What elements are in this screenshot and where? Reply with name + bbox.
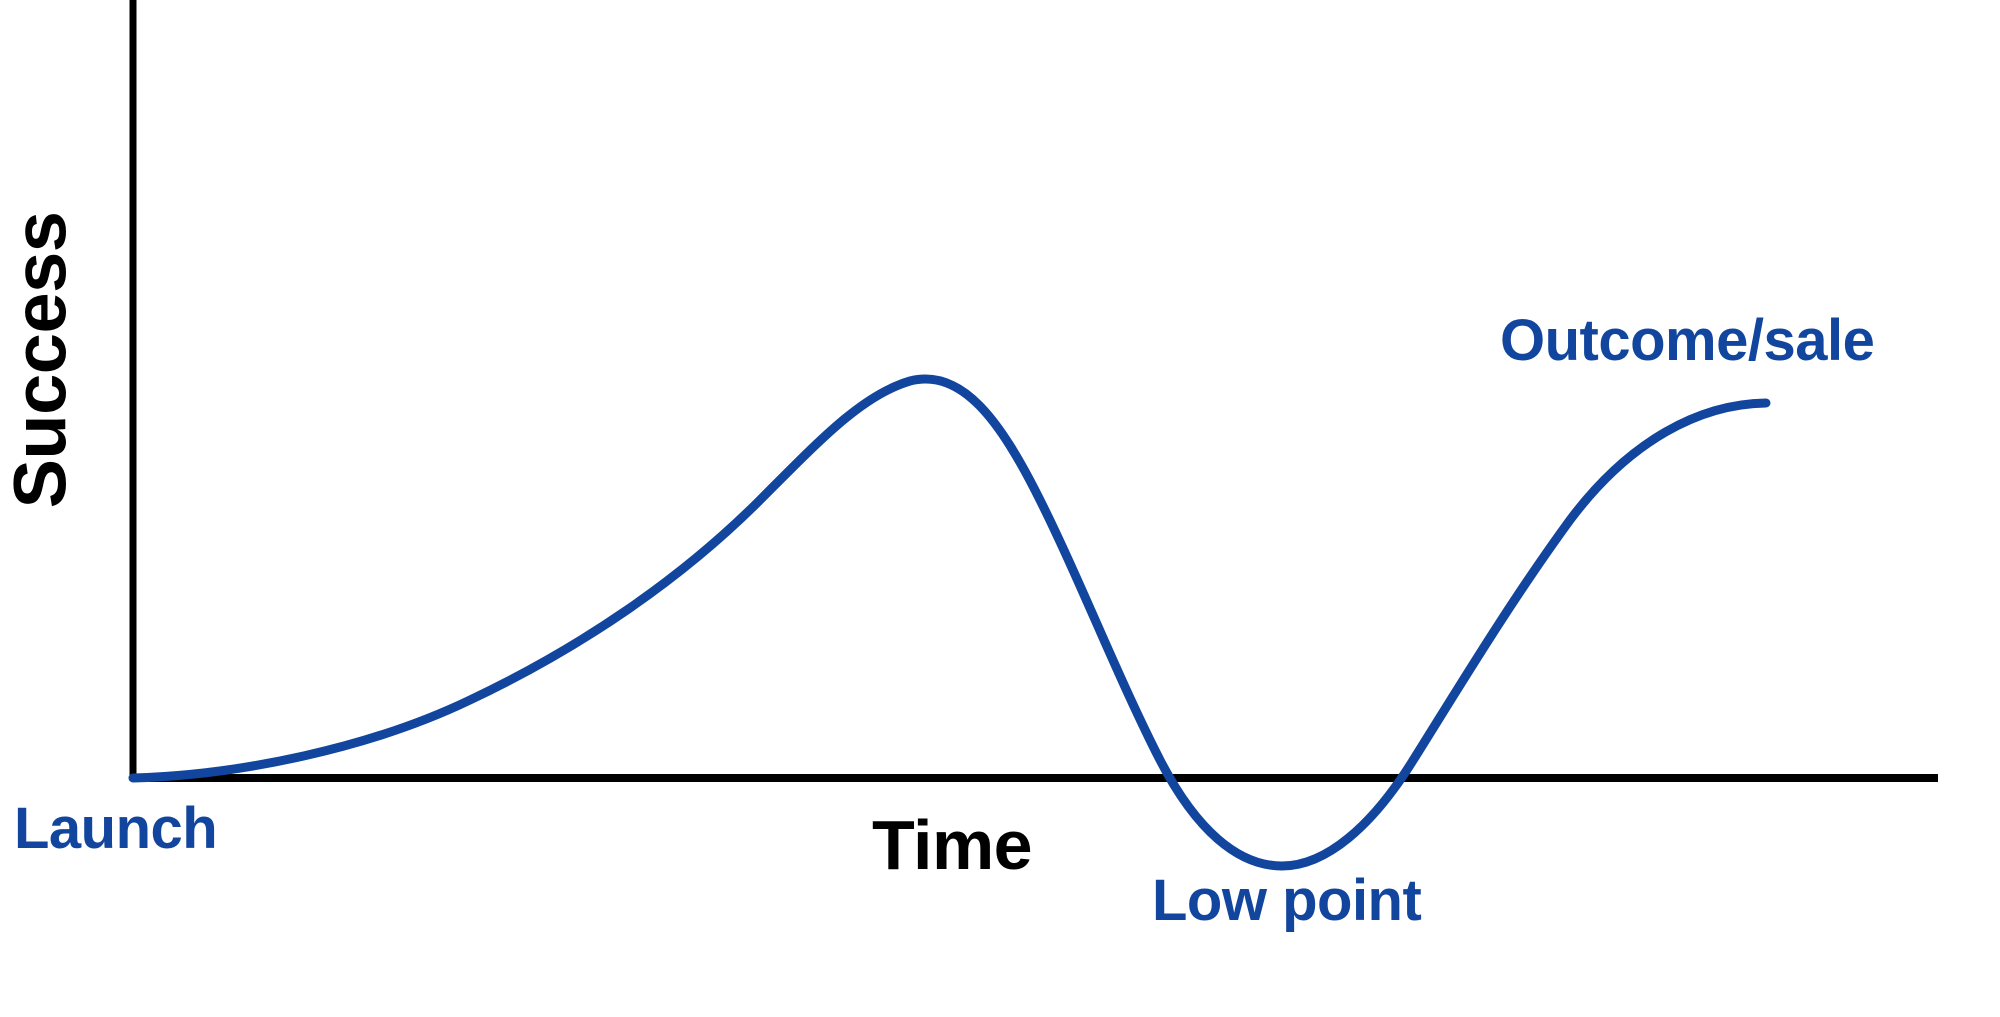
chart-canvas: Success Time Launch Low point Outcome/sa…	[0, 0, 2000, 1017]
annotation-low-point: Low point	[1152, 872, 1421, 930]
y-axis-title-text: Success	[3, 212, 77, 509]
y-axis-title: Success	[0, 160, 80, 560]
annotation-outcome-sale: Outcome/sale	[1500, 312, 1874, 370]
success-curve	[133, 379, 1766, 866]
x-axis-title: Time	[872, 810, 1032, 880]
annotation-launch: Launch	[14, 800, 217, 858]
